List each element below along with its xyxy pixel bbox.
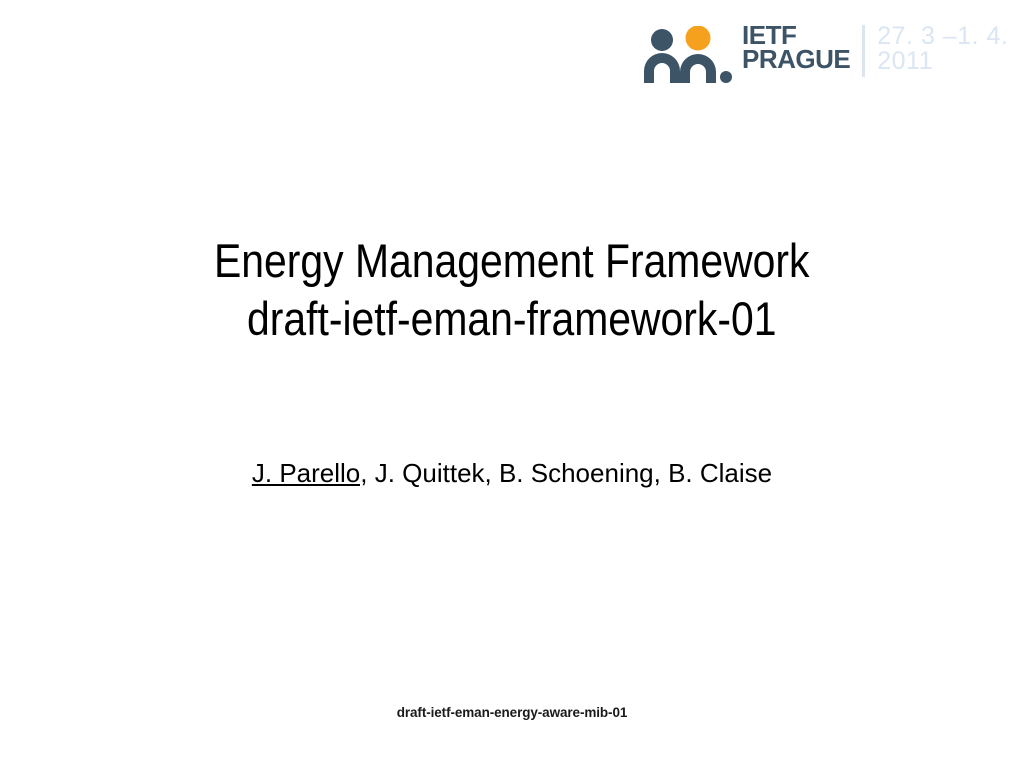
authors-list: J. Parello, J. Quittek, B. Schoening, B.… <box>0 458 1024 489</box>
title-line-primary: Energy Management Framework <box>66 232 957 290</box>
author-coauthors: J. Quittek, B. Schoening, B. Claise <box>367 458 772 488</box>
logo-dates-year: 2011 <box>877 49 1008 74</box>
logo-dates: 27. 3 –1. 4. 2011 <box>877 24 1008 74</box>
logo-dates-range: 27. 3 –1. 4. <box>877 24 1008 49</box>
title-line-draft-name: draft-ietf-eman-framework-01 <box>66 290 957 348</box>
logo-wordmark-prague: PRAGUE <box>742 48 850 72</box>
logo-wordmark: IETF PRAGUE <box>742 24 850 72</box>
author-presenter: J. Parello, <box>252 458 368 488</box>
logo-divider <box>862 25 865 77</box>
logo-people-icon <box>640 26 736 84</box>
slide-footer: draft-ietf-eman-energy-aware-mib-01 <box>0 705 1024 720</box>
presentation-slide: IETF PRAGUE 27. 3 –1. 4. 2011 Energy Man… <box>0 0 1024 768</box>
page-title: Energy Management Framework draft-ietf-e… <box>66 232 957 349</box>
ietf-prague-logo: IETF PRAGUE 27. 3 –1. 4. 2011 <box>640 22 1010 88</box>
